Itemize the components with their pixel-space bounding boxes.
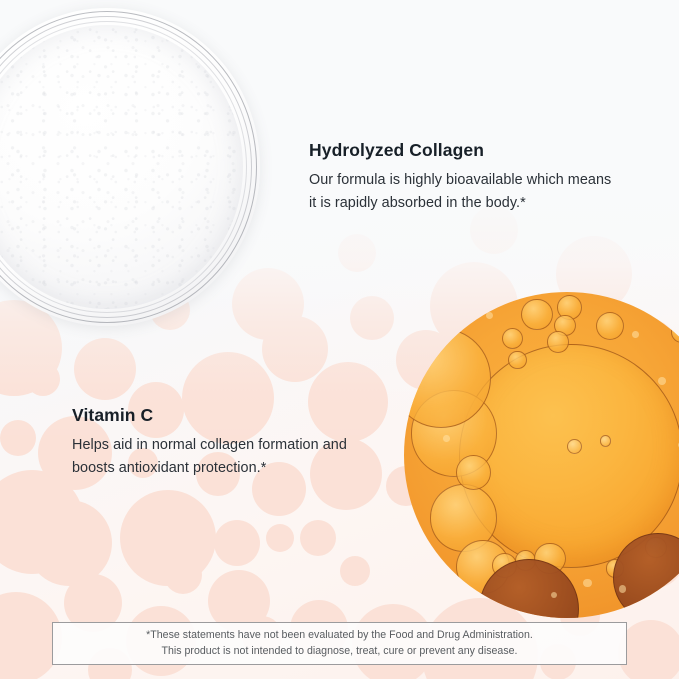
feature-title-vitamin-c: Vitamin C <box>72 405 372 426</box>
ingredient-infographic: Hydrolyzed Collagen Our formula is highl… <box>0 0 679 679</box>
disclaimer-line-2: This product is not intended to diagnose… <box>161 644 517 659</box>
feature-description-hydrolyzed-collagen: Our formula is highly bioavailable which… <box>309 169 614 215</box>
feature-block-hydrolyzed-collagen: Hydrolyzed Collagen Our formula is highl… <box>309 140 614 215</box>
collagen-powder-bowl-image <box>0 8 260 326</box>
feature-title-hydrolyzed-collagen: Hydrolyzed Collagen <box>309 140 614 161</box>
feature-block-vitamin-c: Vitamin C Helps aid in normal collagen f… <box>72 405 372 480</box>
disclaimer-line-1: *These statements have not been evaluate… <box>146 628 533 643</box>
fda-disclaimer-box: *These statements have not been evaluate… <box>52 622 627 665</box>
feature-description-vitamin-c: Helps aid in normal collagen formation a… <box>72 434 372 480</box>
